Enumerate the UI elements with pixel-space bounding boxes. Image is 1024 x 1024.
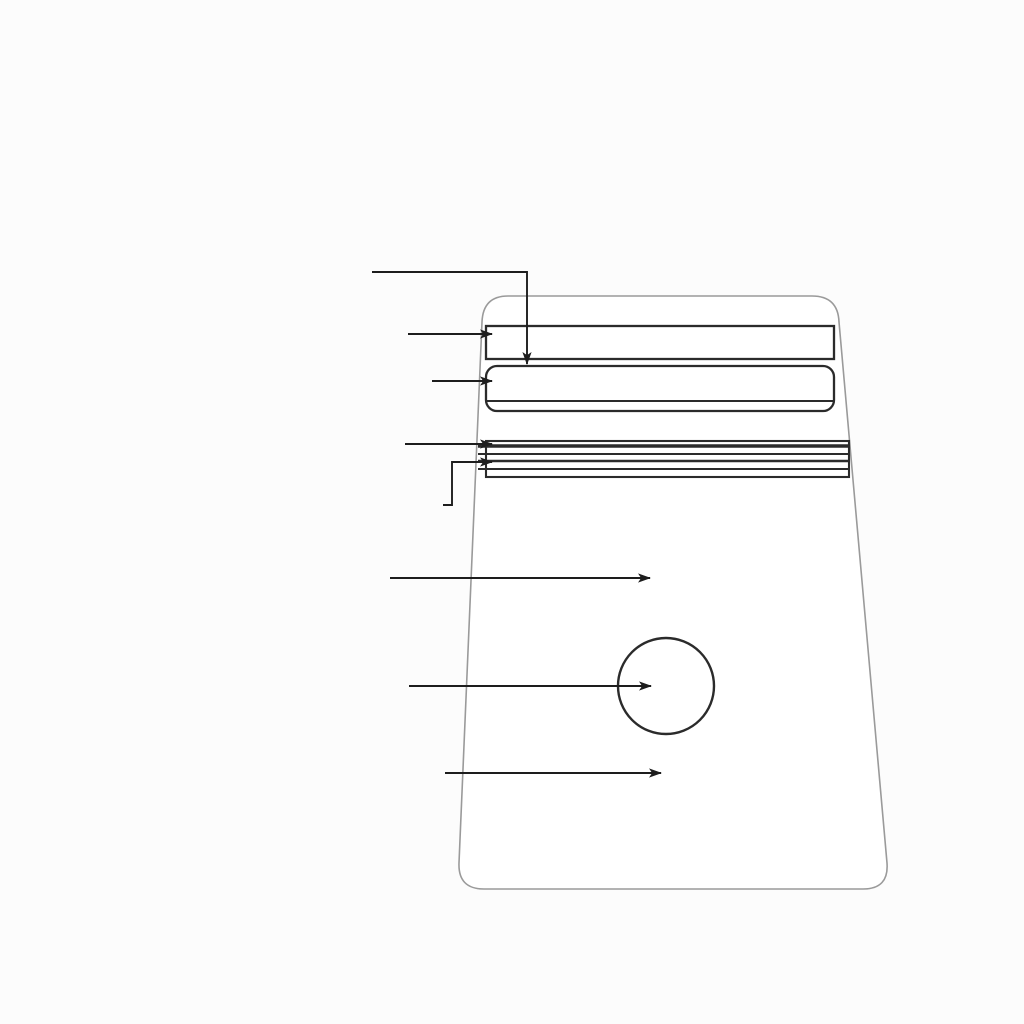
kalimba-illustration — [0, 0, 1024, 1024]
kalimba-diagram-page — [0, 0, 1024, 1024]
hollowed-body-outline — [459, 296, 887, 889]
